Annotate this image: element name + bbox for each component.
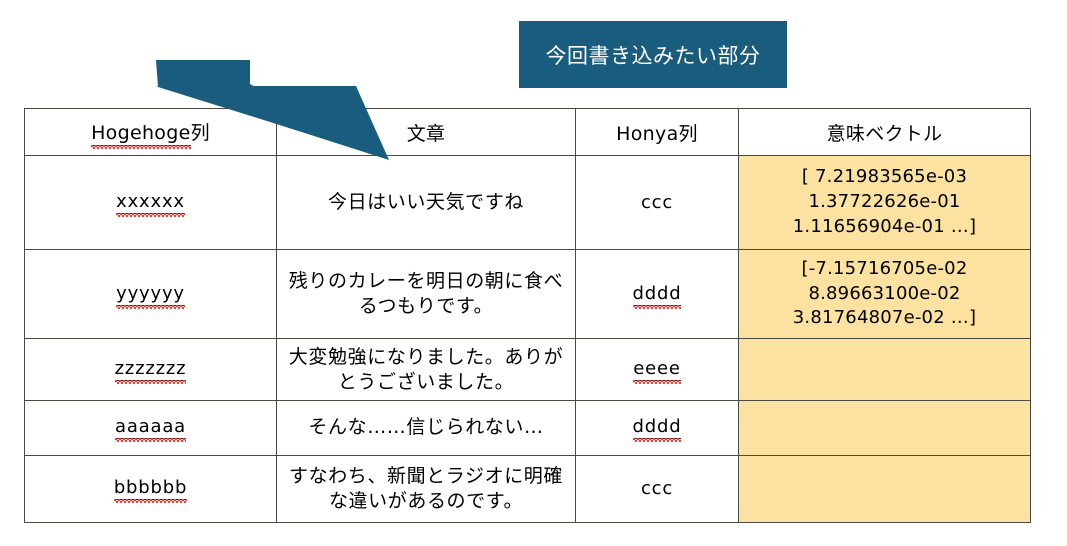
callout-label: 今回書き込みたい部分 <box>519 21 787 88</box>
cell-sentence: そんな……信じられない… <box>277 401 576 455</box>
data-table: Hogehoge列 文章 Honya列 意味ベクトル <box>24 108 1031 523</box>
vector-text: [ 7.21983565e-03 1.37722626e-01 1.116569… <box>793 166 976 237</box>
sentence-text: すなわち、新聞とラジオに明確な違いがあるのです。 <box>289 465 563 512</box>
sentence-text: そんな……信じられない… <box>308 416 543 438</box>
column-header-honya: Honya列 <box>576 109 739 156</box>
cell-honya: eeee <box>576 338 739 400</box>
honya-text: dddd <box>633 283 682 306</box>
data-table-wrapper: Hogehoge列 文章 Honya列 意味ベクトル <box>24 108 1030 523</box>
header-honya-text: Honya列 <box>616 123 698 145</box>
cell-honya: ccc <box>576 455 739 523</box>
key-text: aaaaaa <box>115 416 186 439</box>
sentence-text: 大変勉強になりました。ありがとうございました。 <box>289 346 563 393</box>
cell-sentence: 残りのカレーを明日の朝に食べるつもりです。 <box>277 250 576 339</box>
cell-honya: dddd <box>576 401 739 455</box>
callout-bubble[interactable]: 今回書き込みたい部分 <box>519 21 787 88</box>
key-text: xxxxxx <box>116 191 185 214</box>
table-row: xxxxxx 今日はいい天気ですね ccc [ 7.21983565e-03 1… <box>25 156 1031 250</box>
honya-text: ccc <box>641 478 673 499</box>
table-row: yyyyyy 残りのカレーを明日の朝に食べるつもりです。 dddd [-7.15… <box>25 250 1031 339</box>
sentence-text: 今日はいい天気ですね <box>328 191 524 213</box>
honya-text: ccc <box>641 192 673 213</box>
table-row: bbbbbb すなわち、新聞とラジオに明確な違いがあるのです。 ccc <box>25 455 1031 523</box>
cell-key: zzzzzzz <box>25 338 277 400</box>
cell-key: yyyyyy <box>25 250 277 339</box>
table-row: aaaaaa そんな……信じられない… dddd <box>25 401 1031 455</box>
header-bunsho-text: 文章 <box>407 123 446 145</box>
callout-tail-icon <box>130 60 270 168</box>
header-vector-text: 意味ベクトル <box>827 123 943 145</box>
honya-text: dddd <box>633 416 682 439</box>
cell-key: aaaaaa <box>25 401 277 455</box>
cell-key: bbbbbb <box>25 455 277 523</box>
key-text: zzzzzzz <box>115 358 187 381</box>
honya-text: eeee <box>633 358 681 381</box>
cell-vector <box>739 401 1031 455</box>
cell-honya: dddd <box>576 250 739 339</box>
cell-sentence: 大変勉強になりました。ありがとうございました。 <box>277 338 576 400</box>
cell-key: xxxxxx <box>25 156 277 250</box>
cell-sentence: 今日はいい天気ですね <box>277 156 576 250</box>
table-row: zzzzzzz 大変勉強になりました。ありがとうございました。 eeee <box>25 338 1031 400</box>
cell-sentence: すなわち、新聞とラジオに明確な違いがあるのです。 <box>277 455 576 523</box>
cell-honya: ccc <box>576 156 739 250</box>
sentence-text: 残りのカレーを明日の朝に食べるつもりです。 <box>289 270 563 317</box>
key-text: bbbbbb <box>114 477 187 500</box>
vector-text: [-7.15716705e-02 8.89663100e-02 3.817648… <box>793 258 976 329</box>
cell-vector <box>739 338 1031 400</box>
cell-vector: [ 7.21983565e-03 1.37722626e-01 1.116569… <box>739 156 1031 250</box>
key-text: yyyyyy <box>116 283 185 306</box>
cell-vector <box>739 455 1031 523</box>
slide-canvas: 今回書き込みたい部分 Hogehoge列 文章 <box>0 0 1067 546</box>
cell-vector: [-7.15716705e-02 8.89663100e-02 3.817648… <box>739 250 1031 339</box>
column-header-vector: 意味ベクトル <box>739 109 1031 156</box>
